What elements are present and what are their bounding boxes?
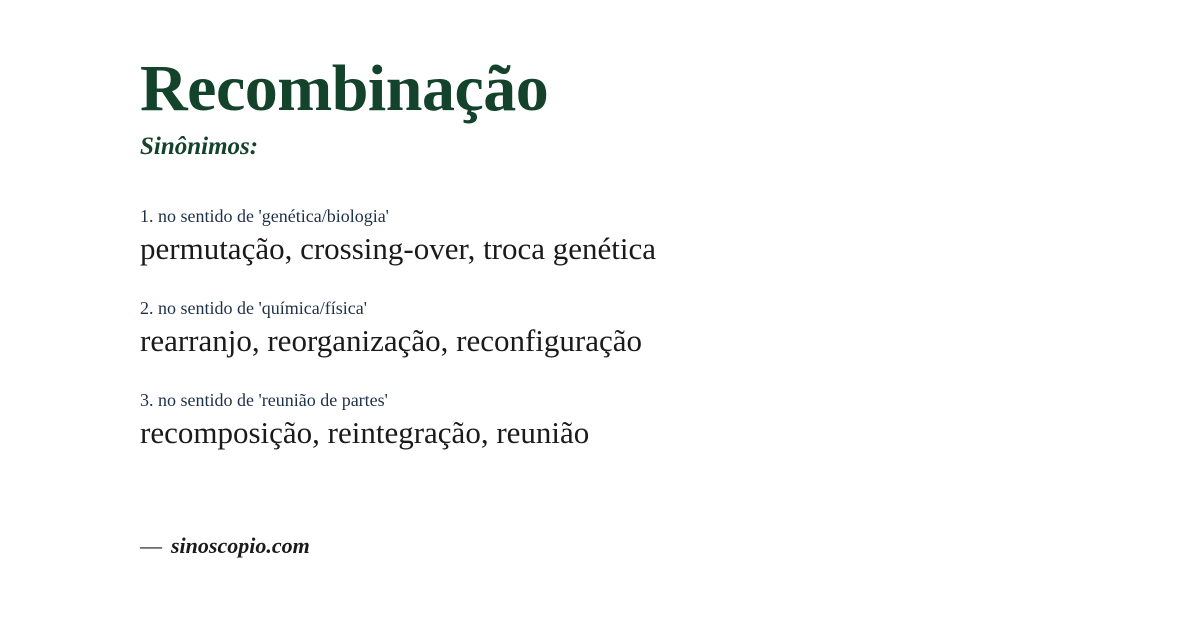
list-item: 3. no sentido de 'reunião de partes' rec…: [140, 390, 1140, 451]
page-title: Recombinação: [140, 56, 548, 122]
em-dash-icon: —: [140, 533, 162, 558]
source-name: sinoscopio.com: [171, 533, 310, 558]
sense-synonyms: permutação, crossing-over, troca genétic…: [140, 231, 1140, 267]
sense-list: 1. no sentido de 'genética/biologia' per…: [140, 206, 1140, 451]
sense-label: 3. no sentido de 'reunião de partes': [140, 390, 1140, 411]
list-item: 1. no sentido de 'genética/biologia' per…: [140, 206, 1140, 267]
sense-synonyms: recomposição, reintegração, reunião: [140, 415, 1140, 451]
sense-label: 1. no sentido de 'genética/biologia': [140, 206, 1140, 227]
sense-label: 2. no sentido de 'química/física': [140, 298, 1140, 319]
synonym-card: Recombinação Sinônimos: 1. no sentido de…: [0, 0, 1200, 628]
source-attribution: —sinoscopio.com: [140, 533, 310, 559]
section-subtitle: Sinônimos:: [140, 133, 258, 161]
list-item: 2. no sentido de 'química/física' rearra…: [140, 298, 1140, 359]
sense-synonyms: rearranjo, reorganização, reconfiguração: [140, 323, 1140, 359]
